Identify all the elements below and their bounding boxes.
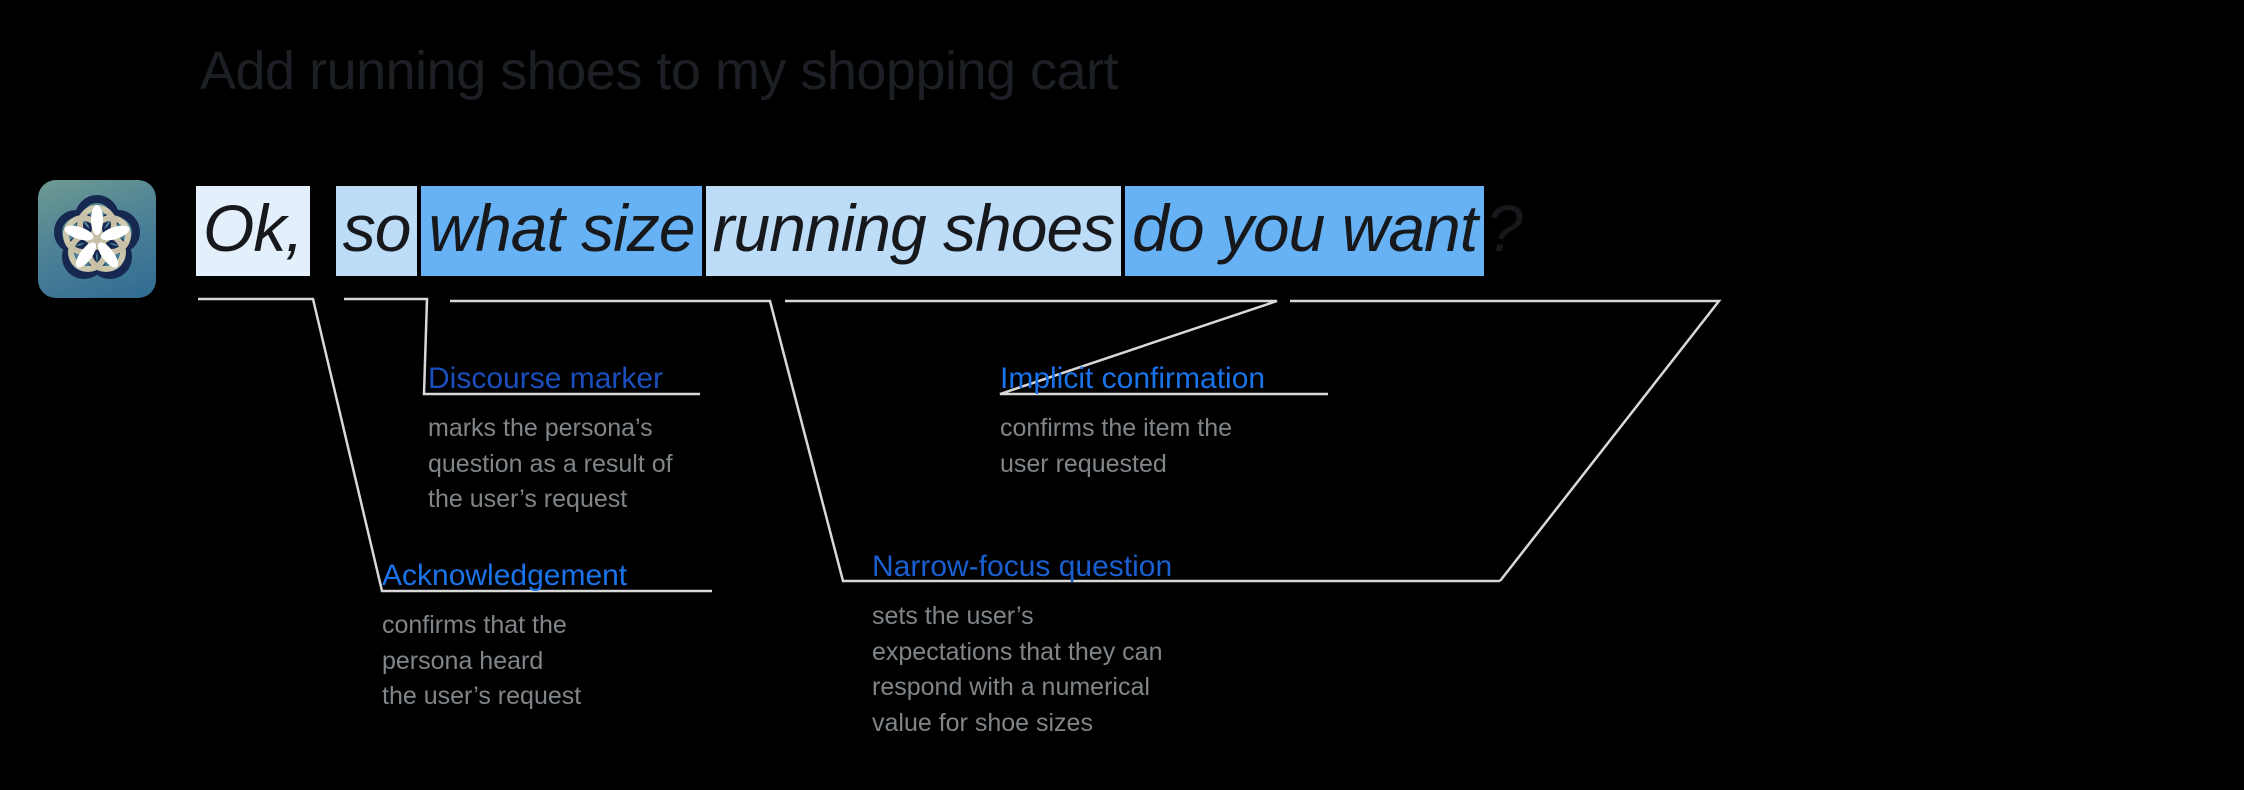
page-title: Add running shoes to my shopping cart [200,40,1118,102]
utterance-segment-running-shoes[interactable]: running shoes [706,186,1122,276]
annotation-discourse-marker: Discourse marker marks the persona’s que… [428,364,758,518]
annotation-title-implicit-confirmation[interactable]: Implicit confirmation [1000,364,1350,400]
annotation-body-implicit-confirmation: confirms the item the user requested [1000,411,1350,482]
annotation-narrow-focus-question: Narrow-focus question sets the user’s ex… [872,552,1292,741]
utterance-segment-ok[interactable]: Ok, [196,186,310,276]
leader-line-doyouwant-to-narrow-focus [1290,301,1719,581]
utterance-segment-so[interactable]: so [336,186,418,276]
utterance-trailing-punctuation: ? [1484,186,1522,276]
annotation-implicit-confirmation: Implicit confirmation confirms the item … [1000,364,1350,482]
flower-rosette-icon [38,180,156,298]
annotation-acknowledgement: Acknowledgement confirms that the person… [382,561,722,715]
annotation-title-narrow-focus-question[interactable]: Narrow-focus question [872,552,1292,588]
utterance-segment-do-you-want[interactable]: do you want [1125,186,1484,276]
persona-avatar [38,180,156,298]
utterance-segment-what-size[interactable]: what size [421,186,701,276]
annotation-body-discourse-marker: marks the persona’s question as a result… [428,411,758,518]
annotation-title-discourse-marker[interactable]: Discourse marker [428,364,758,400]
annotated-utterance-canvas: Add running shoes to my shopping cart [0,0,2244,790]
persona-utterance: Ok,sowhat sizerunning shoesdo you want? [196,186,1522,294]
annotation-title-acknowledgement[interactable]: Acknowledgement [382,561,722,597]
annotation-body-narrow-focus-question: sets the user’s expectations that they c… [872,599,1292,741]
annotation-body-acknowledgement: confirms that the persona heard the user… [382,608,722,715]
